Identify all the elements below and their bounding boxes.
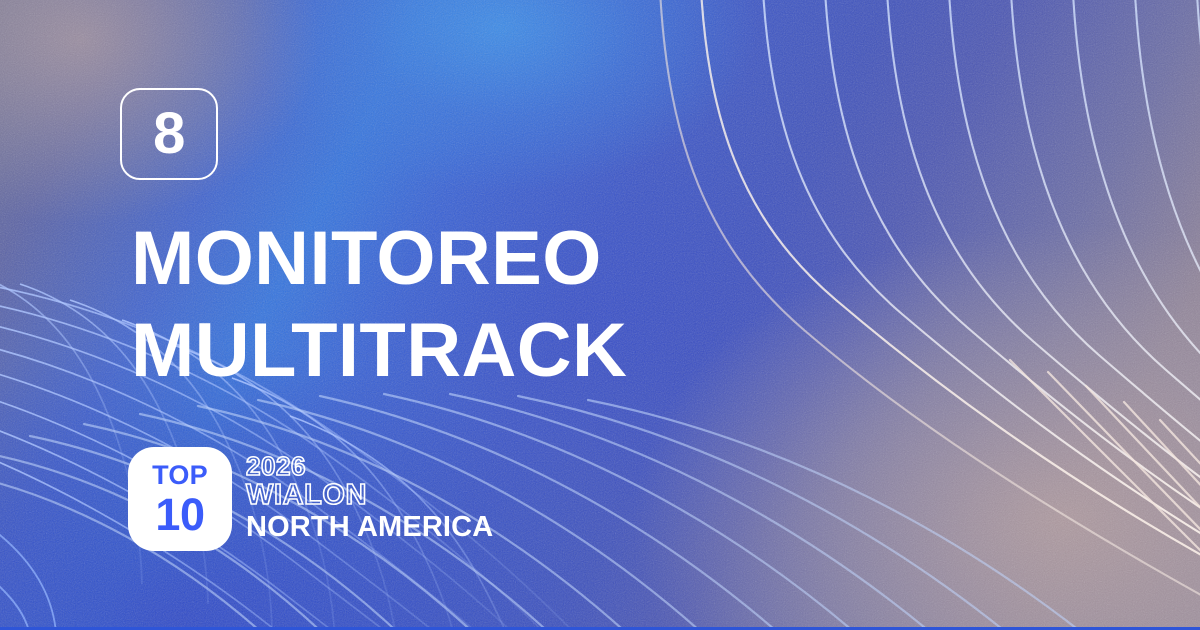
arc-group-bottom-left-corner [0, 520, 56, 630]
headline-line-2: MULTITRACK [131, 313, 1031, 389]
award-lockup: TOP 10 2026 WIALON NORTH AMERICA [128, 447, 493, 551]
diagonal-group-lower-right [1010, 360, 1200, 560]
award-top10-tile: TOP 10 [128, 447, 232, 551]
promo-card: 8 MONITOREO MULTITRACK TOP 10 2026 WIALO… [0, 0, 1200, 630]
award-rank-label: 10 [155, 492, 204, 537]
headline-line-1: MONITOREO [131, 221, 1031, 297]
award-brand: WIALON [246, 481, 493, 511]
award-year: 2026 [246, 453, 493, 480]
award-top-label: TOP [152, 462, 208, 489]
award-text-block: 2026 WIALON NORTH AMERICA [246, 453, 493, 545]
award-region: NORTH AMERICA [246, 512, 493, 542]
page-title: MONITOREO MULTITRACK [131, 221, 1031, 389]
rank-number: 8 [153, 105, 185, 163]
rank-badge: 8 [120, 88, 218, 180]
